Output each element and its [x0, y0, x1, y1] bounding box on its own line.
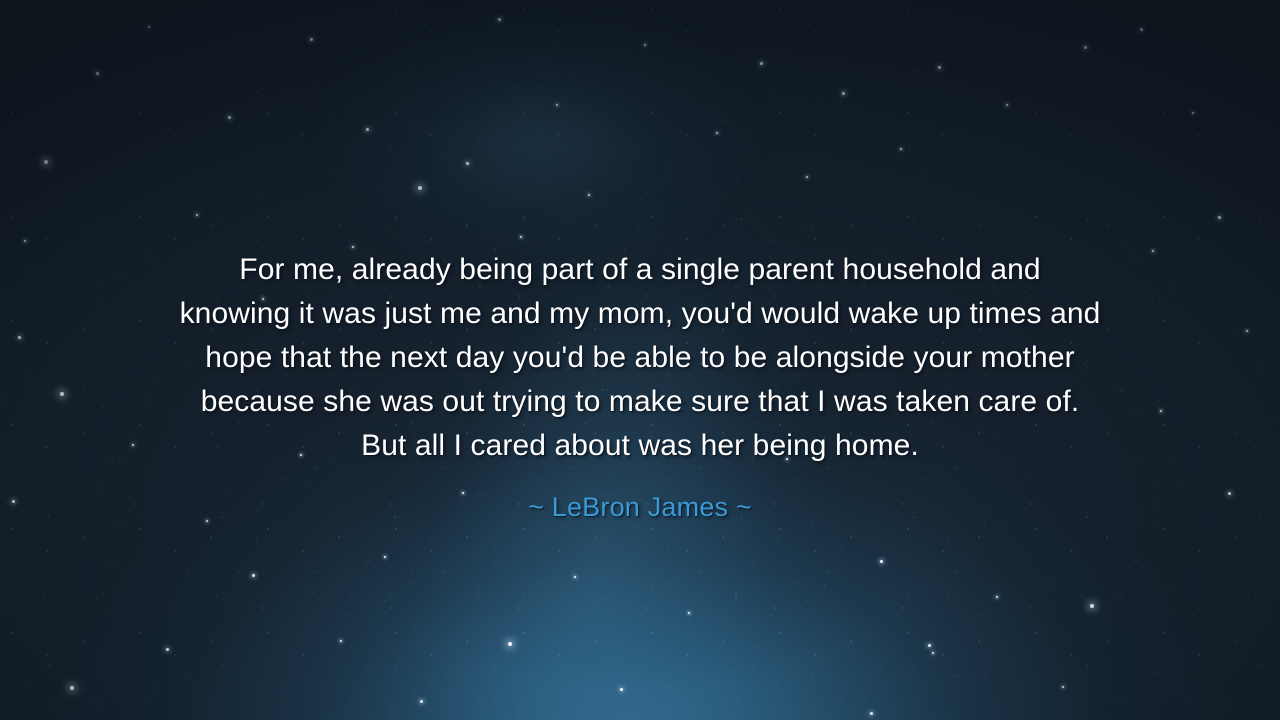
quote-content: For me, already being part of a single p…: [0, 0, 1280, 720]
quote-line: because she was out trying to make sure …: [80, 380, 1200, 424]
quote-attribution: ~ LeBron James ~: [528, 490, 752, 524]
quote-line: hope that the next day you'd be able to …: [80, 336, 1200, 380]
quote-line: But all I cared about was her being home…: [80, 424, 1200, 468]
quote-line: knowing it was just me and my mom, you'd…: [80, 292, 1200, 336]
quote-text: For me, already being part of a single p…: [80, 248, 1200, 468]
quote-card: For me, already being part of a single p…: [0, 0, 1280, 720]
quote-line: For me, already being part of a single p…: [80, 248, 1200, 292]
